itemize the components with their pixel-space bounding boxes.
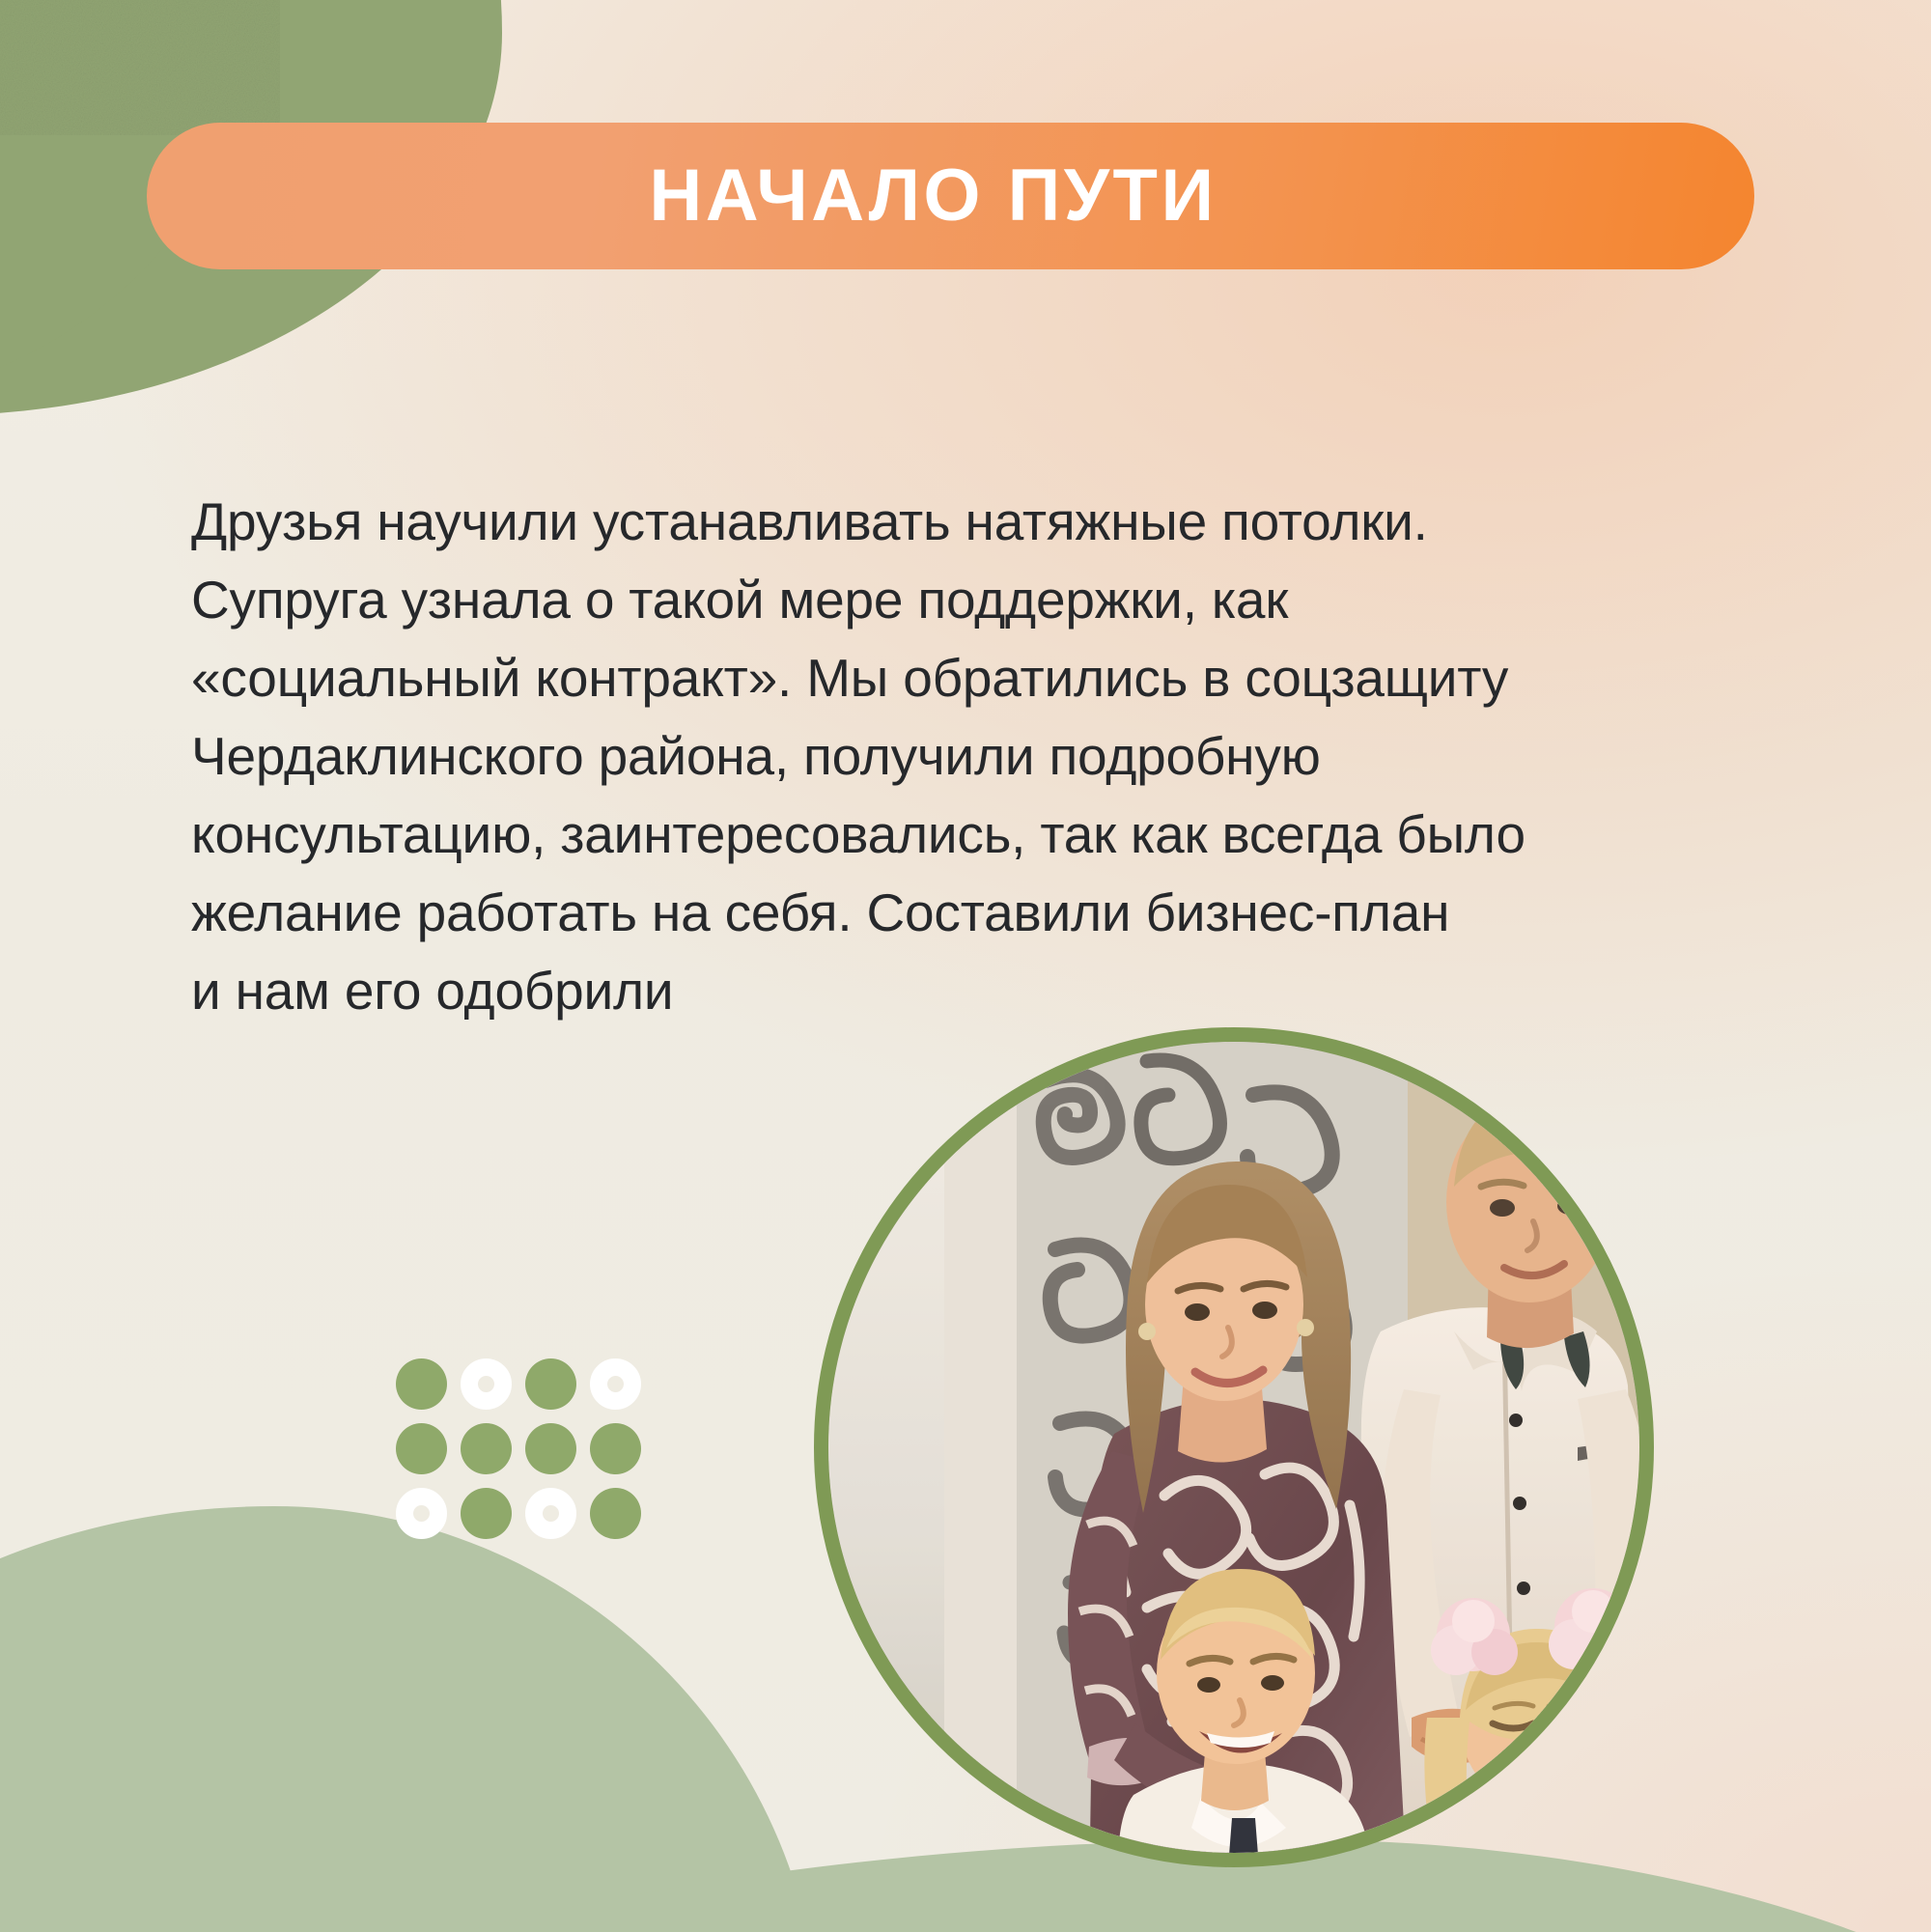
body-line: Чердаклинского района, получили подробну… bbox=[191, 717, 1697, 796]
body-paragraph: Друзья научили устанавливать натяжные по… bbox=[191, 483, 1697, 1030]
dot-solid bbox=[454, 1416, 518, 1481]
body-line: Супруга узнала о такой мере поддержки, к… bbox=[191, 561, 1697, 639]
body-line: желание работать на себя. Составили бизн… bbox=[191, 874, 1697, 952]
dot-solid bbox=[518, 1352, 583, 1416]
body-line: Друзья научили устанавливать натяжные по… bbox=[191, 483, 1697, 561]
family-photo bbox=[828, 1042, 1639, 1853]
dot-ring bbox=[518, 1481, 583, 1546]
dot-solid bbox=[454, 1481, 518, 1546]
dot-solid bbox=[583, 1416, 648, 1481]
family-photo-illustration bbox=[828, 1042, 1639, 1853]
poster-canvas: НАЧАЛО ПУТИ Друзья научили устанавливать… bbox=[0, 0, 1931, 1932]
dot-solid bbox=[389, 1416, 454, 1481]
family-photo-frame bbox=[814, 1027, 1654, 1867]
decor-dot-grid bbox=[389, 1352, 648, 1546]
body-line: консультацию, заинтересовались, так как … bbox=[191, 796, 1697, 874]
dot-ring bbox=[454, 1352, 518, 1416]
body-line: «социальный контракт». Мы обратились в с… bbox=[191, 639, 1697, 717]
dot-solid bbox=[518, 1416, 583, 1481]
dot-solid bbox=[389, 1352, 454, 1416]
body-line: и нам его одобрили bbox=[191, 952, 1697, 1030]
dot-ring bbox=[389, 1481, 454, 1546]
dot-solid bbox=[583, 1481, 648, 1546]
title-banner: НАЧАЛО ПУТИ bbox=[147, 123, 1754, 269]
dot-ring bbox=[583, 1352, 648, 1416]
page-title: НАЧАЛО ПУТИ bbox=[649, 159, 1217, 233]
